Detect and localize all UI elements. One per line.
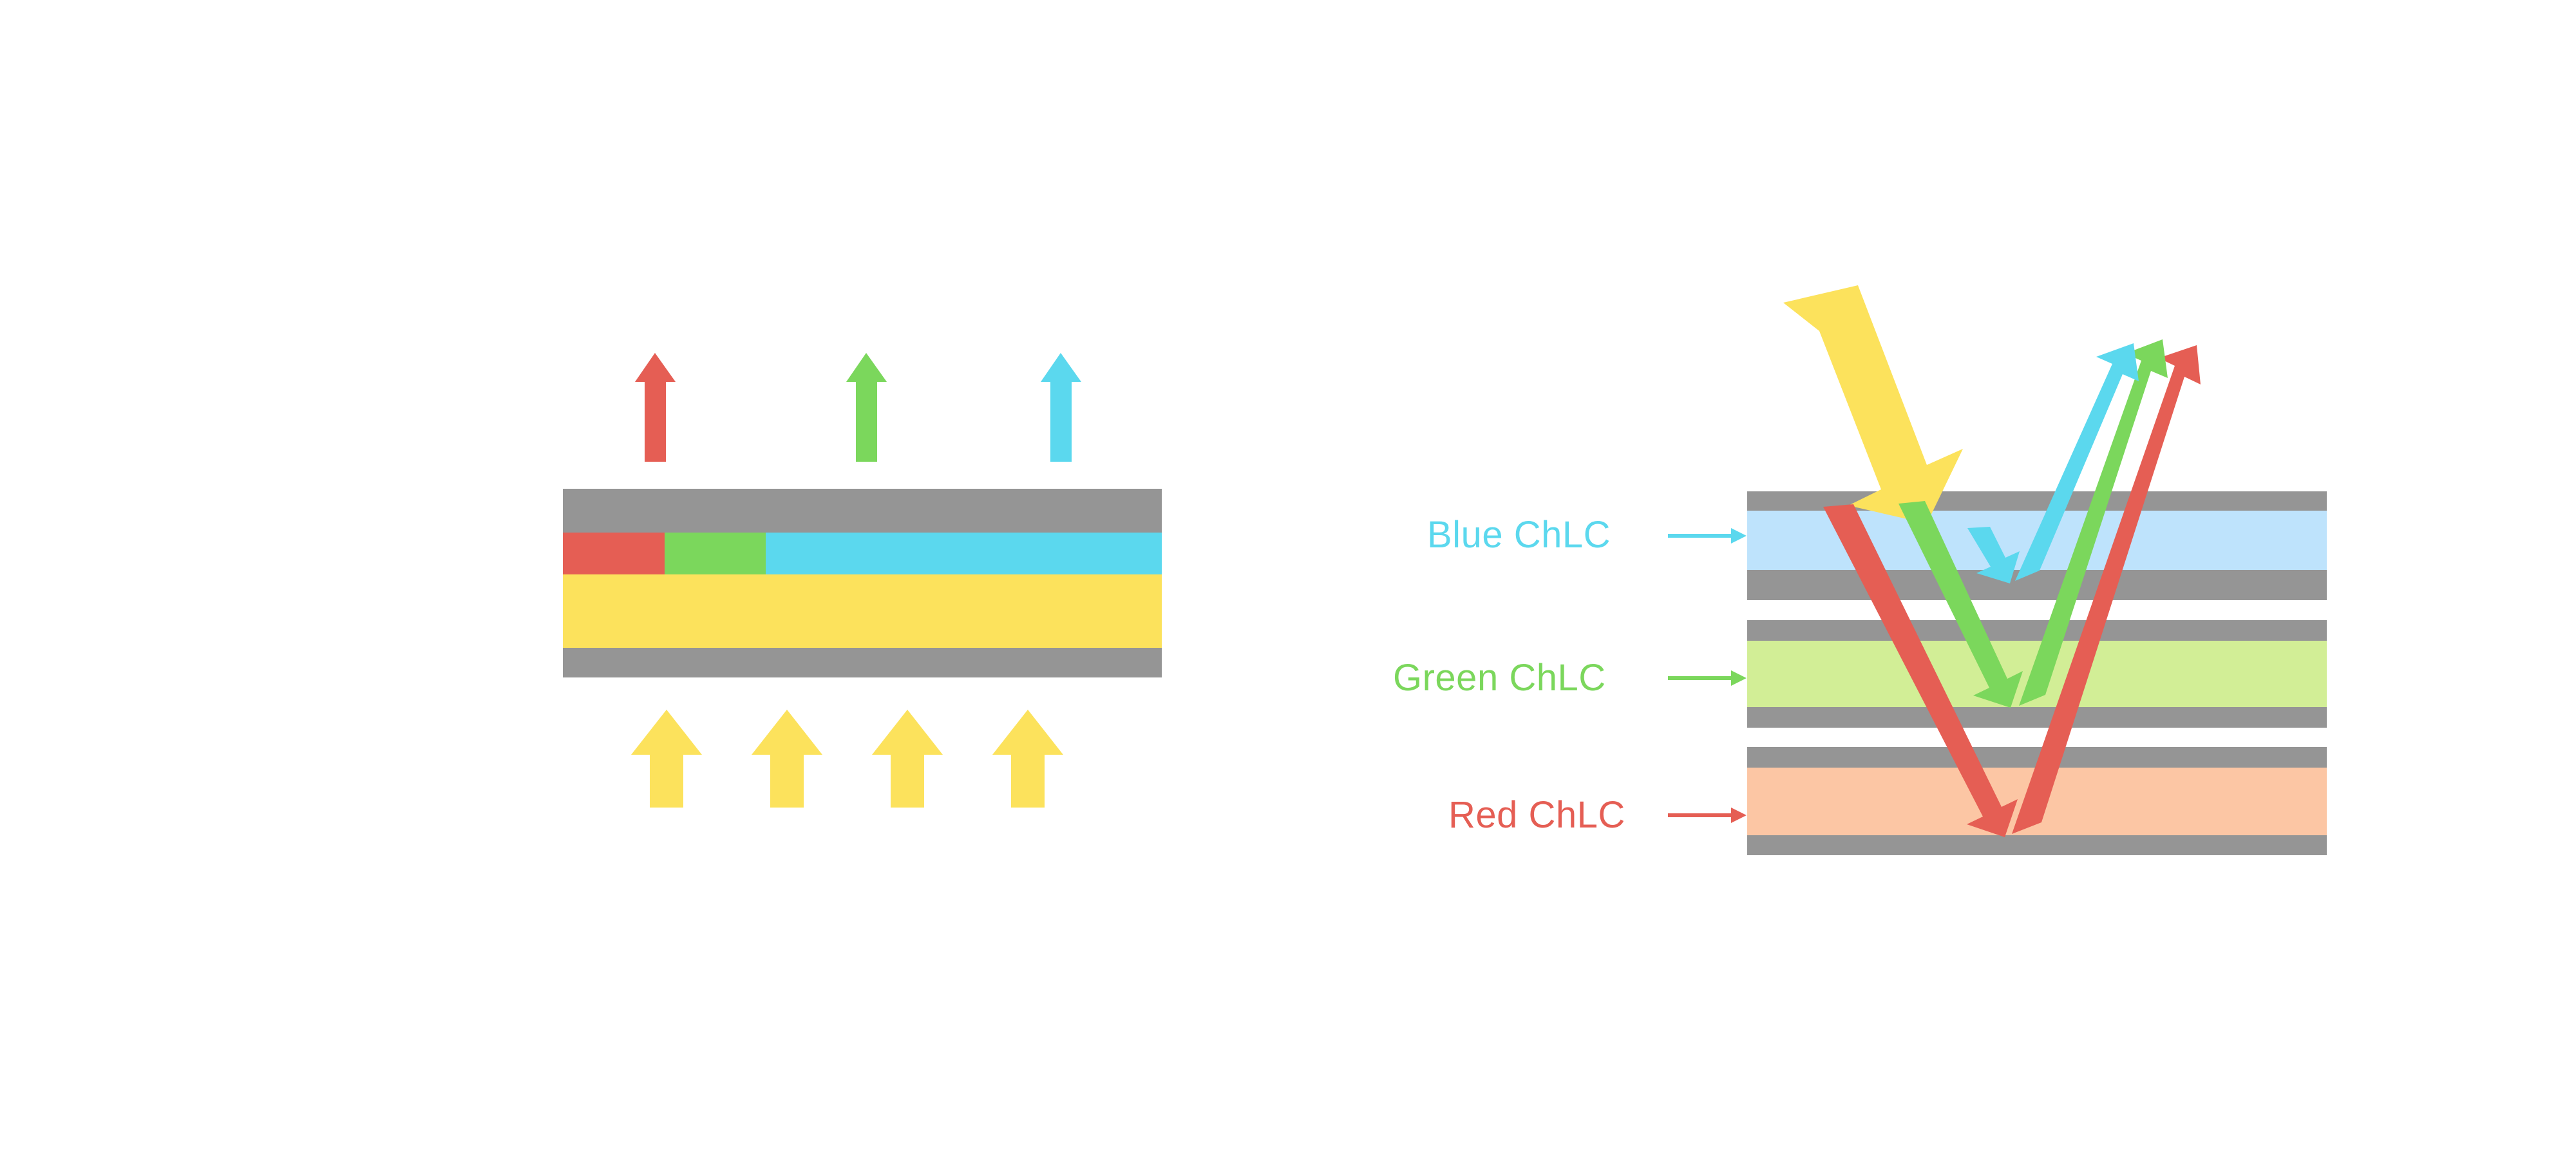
blue-filter-segment [766, 533, 1162, 574]
bottom-electrode-layer [563, 648, 1162, 677]
backlight-layer [563, 574, 1162, 648]
top-electrode-layer [563, 489, 1162, 533]
red-bottom-electrode [1747, 835, 2327, 855]
green-top-electrode [1747, 620, 2327, 641]
blue-chlc-label-text: Blue ChLC [1427, 514, 1611, 556]
chlc-display-diagram: Blue ChLC Green ChLC Red ChLC [0, 0, 2576, 1154]
emissive-layer-stack [563, 489, 1162, 677]
figure-root: Blue ChLC Green ChLC Red ChLC [0, 0, 2576, 1154]
gap-1 [1747, 600, 2327, 620]
blue-bottom-electrode [1747, 570, 2327, 600]
green-bottom-electrode [1747, 707, 2327, 728]
color-filter-layer [563, 533, 1162, 574]
red-filter-segment [563, 533, 665, 574]
green-chlc-label-text: Green ChLC [1393, 657, 1606, 699]
green-filter-segment [665, 533, 766, 574]
red-chlc-label-text: Red ChLC [1448, 794, 1625, 836]
gap-2 [1747, 728, 2327, 747]
